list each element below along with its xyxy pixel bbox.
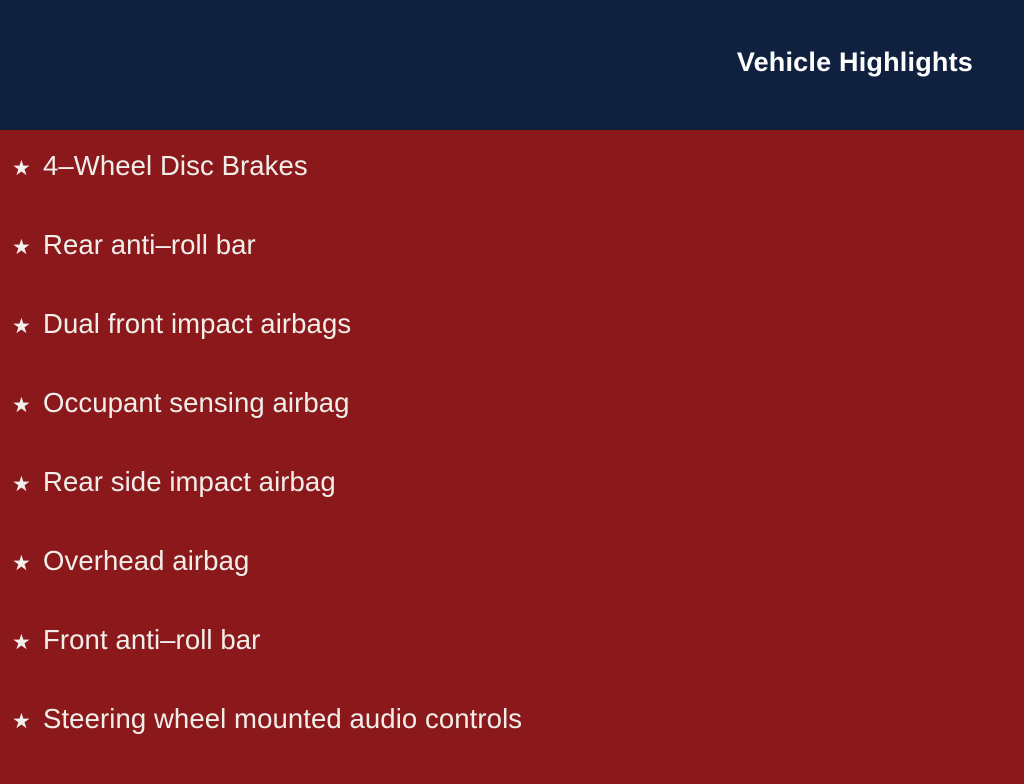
list-item: ★ Overhead airbag (0, 547, 1024, 626)
star-icon: ★ (12, 632, 43, 653)
list-item: ★ Rear side impact airbag (0, 468, 1024, 547)
list-item: ★ Rear anti–roll bar (0, 231, 1024, 310)
list-item: ★ 4–Wheel Disc Brakes (0, 152, 1024, 231)
list-item-label: Overhead airbag (43, 547, 249, 575)
star-icon: ★ (12, 316, 43, 337)
highlights-content: ★ 4–Wheel Disc Brakes ★ Rear anti–roll b… (0, 130, 1024, 784)
star-icon: ★ (12, 553, 43, 574)
list-item-label: Front anti–roll bar (43, 626, 260, 654)
star-icon: ★ (12, 711, 43, 732)
vehicle-highlights-list: ★ 4–Wheel Disc Brakes ★ Rear anti–roll b… (0, 152, 1024, 784)
star-icon: ★ (12, 474, 43, 495)
header-bar: Vehicle Highlights (0, 0, 1024, 130)
page-title: Vehicle Highlights (737, 49, 973, 76)
list-item: ★ Dual front impact airbags (0, 310, 1024, 389)
star-icon: ★ (12, 395, 43, 416)
list-item-label: Rear side impact airbag (43, 468, 336, 496)
list-item-label: Dual front impact airbags (43, 310, 351, 338)
star-icon: ★ (12, 158, 43, 179)
list-item: ★ Occupant sensing airbag (0, 389, 1024, 468)
list-item-label: 4–Wheel Disc Brakes (43, 152, 308, 180)
list-item-label: Occupant sensing airbag (43, 389, 350, 417)
list-item-label: Steering wheel mounted audio controls (43, 705, 522, 733)
list-item-label: Rear anti–roll bar (43, 231, 256, 259)
slide-vehicle-highlights: Vehicle Highlights ★ 4–Wheel Disc Brakes… (0, 0, 1024, 768)
list-item: ★ Front anti–roll bar (0, 626, 1024, 705)
star-icon: ★ (12, 237, 43, 258)
list-item: ★ Steering wheel mounted audio controls (0, 705, 1024, 784)
